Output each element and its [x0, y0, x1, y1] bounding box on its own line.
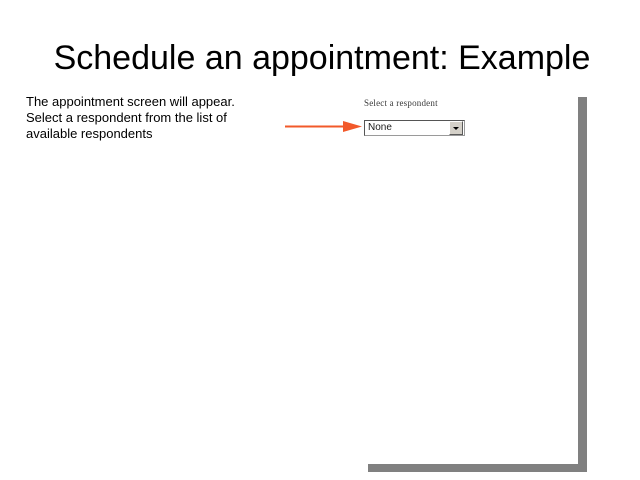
respondent-label: Select a respondent — [364, 98, 474, 109]
embedded-screenshot-region — [290, 92, 580, 468]
slide-canvas: Schedule an appointment: Example The app… — [0, 0, 640, 480]
instruction-text: The appointment screen will appear. Sele… — [26, 94, 261, 142]
respondent-field-group: Select a respondent None — [364, 98, 474, 136]
respondent-select[interactable]: None — [364, 120, 465, 136]
callout-arrow-head — [343, 121, 362, 132]
chevron-down-glyph — [453, 127, 459, 130]
page-title: Schedule an appointment: Example — [30, 38, 614, 78]
screenshot-shadow-bottom — [368, 464, 587, 472]
chevron-down-icon[interactable] — [449, 121, 463, 135]
right-arrow-icon — [283, 117, 365, 135]
screenshot-shadow-right — [578, 97, 587, 472]
respondent-select-value: None — [365, 121, 449, 135]
